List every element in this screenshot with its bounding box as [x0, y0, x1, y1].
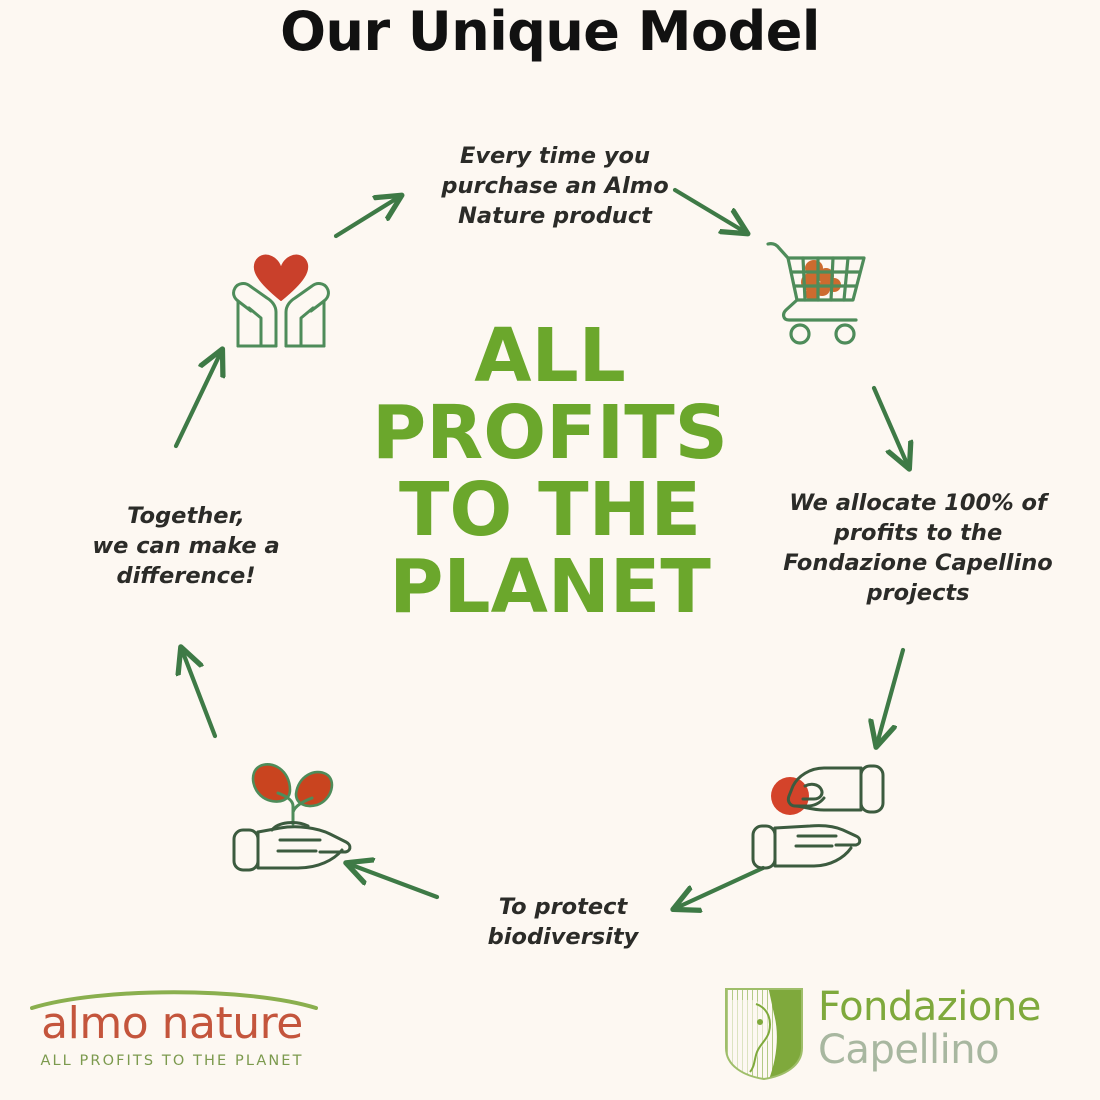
fondazione-capellino-logo: Fondazione Capellino: [722, 984, 1078, 1084]
caption-biodiversity: To protect biodiversity: [442, 893, 684, 953]
arrow-cart-to-allocate: [874, 388, 908, 466]
fondazione-capellino-wordmark: Fondazione Capellino: [818, 986, 1078, 1072]
shopping-cart-icon: [752, 232, 884, 352]
caption-allocate-line-4: projects: [768, 579, 1068, 609]
sprout-in-hand-icon: [220, 748, 366, 874]
caption-purchase: Every time you purchase an Almo Nature p…: [410, 142, 700, 232]
fondazione-capellino-line-1: Fondazione: [818, 986, 1078, 1029]
caption-together-line-2: we can make a: [62, 532, 310, 562]
arrow-together-to-heart: [176, 352, 221, 446]
almo-nature-wordmark: almo nature: [22, 1000, 322, 1048]
caption-biodiversity-line-2: biodiversity: [442, 923, 684, 953]
heart-in-hands-icon: [216, 228, 346, 353]
caption-allocate-line-1: We allocate 100% of: [768, 489, 1068, 519]
infographic-canvas: Our Unique Model ALL: [0, 0, 1100, 1100]
caption-biodiversity-line-1: To protect: [442, 893, 684, 923]
caption-purchase-line-3: Nature product: [410, 202, 700, 232]
center-headline-line-1: ALL: [330, 318, 770, 395]
arrow-allocate-to-coin: [877, 650, 903, 744]
center-headline-line-4: PLANET: [330, 549, 770, 626]
center-headline: ALL PROFITS TO THE PLANET: [330, 318, 770, 626]
caption-together-line-3: difference!: [62, 562, 310, 592]
caption-together: Together, we can make a difference!: [62, 502, 310, 592]
coin-in-hands-icon: [748, 756, 888, 874]
page-title: Our Unique Model: [0, 2, 1100, 61]
fondazione-capellino-shield-icon: [722, 986, 806, 1082]
caption-allocate: We allocate 100% of profits to the Fonda…: [768, 489, 1068, 609]
caption-purchase-line-2: purchase an Almo: [410, 172, 700, 202]
center-headline-line-2: PROFITS: [330, 395, 770, 472]
center-headline-line-3: TO THE: [330, 472, 770, 549]
arrow-plant-to-together: [182, 650, 215, 736]
caption-purchase-line-1: Every time you: [410, 142, 700, 172]
caption-allocate-line-3: Fondazione Capellino: [768, 549, 1068, 579]
caption-allocate-line-2: profits to the: [768, 519, 1068, 549]
almo-nature-logo: almo nature ALL PROFITS TO THE PLANET: [22, 988, 322, 1084]
almo-nature-tagline: ALL PROFITS TO THE PLANET: [22, 1054, 322, 1070]
caption-together-line-1: Together,: [62, 502, 310, 532]
fondazione-capellino-line-2: Capellino: [818, 1029, 1078, 1072]
